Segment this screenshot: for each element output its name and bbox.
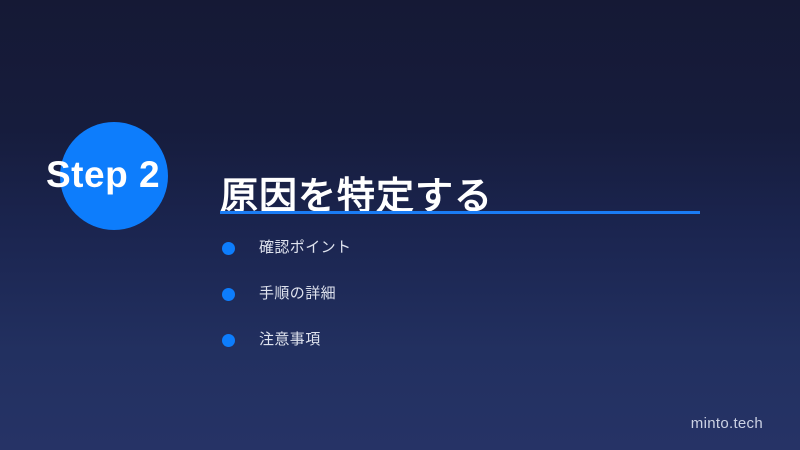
list-item-label: 注意事項: [259, 328, 321, 352]
bullet-dot-icon: [222, 334, 235, 347]
title-underline-divider: [220, 211, 700, 214]
list-item: 確認ポイント: [222, 236, 692, 260]
list-item-label: 手順の詳細: [259, 282, 336, 306]
bullet-dot-icon: [222, 242, 235, 255]
bullet-dot-icon: [222, 288, 235, 301]
slide-canvas: Step 2 原因を特定する 確認ポイント 手順の詳細 注意事項 minto.t…: [0, 0, 800, 450]
bullet-list: 確認ポイント 手順の詳細 注意事項: [222, 236, 692, 374]
footer-brand-watermark: minto.tech: [691, 415, 763, 432]
list-item-label: 確認ポイント: [259, 236, 351, 260]
page-title: 原因を特定する: [220, 173, 493, 221]
list-item: 注意事項: [222, 328, 692, 352]
list-item: 手順の詳細: [222, 282, 692, 306]
step-badge-label: Step 2: [46, 152, 206, 198]
